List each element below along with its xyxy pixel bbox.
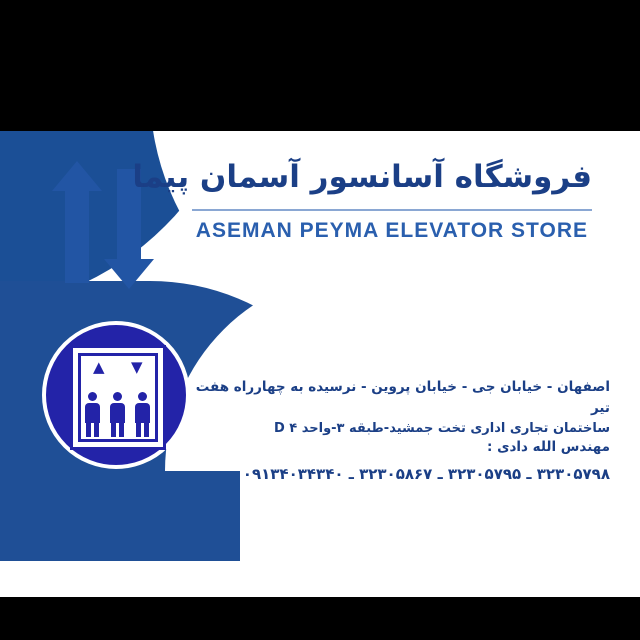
- sign-arrow-up-icon: ▲: [93, 360, 105, 375]
- elevator-sign-plate: ▲ ▼: [70, 345, 166, 450]
- title-divider: [192, 209, 592, 211]
- arrow-up-icon: [65, 183, 89, 283]
- arrow-up-head-icon: [52, 161, 102, 191]
- store-title-persian: فروشگاه آسانسور آسمان پیما: [172, 159, 592, 195]
- decorative-shape-white-bottom: [0, 561, 640, 597]
- contact-person: مهندس الله دادی :: [487, 439, 610, 455]
- elevator-sign-badge: ▲ ▼: [42, 321, 190, 469]
- arrow-down-head-icon: [104, 259, 154, 289]
- person-icon: [107, 392, 127, 438]
- person-icon: [132, 392, 152, 438]
- sign-arrow-down-icon: ▼: [131, 360, 143, 375]
- person-icon: [82, 392, 102, 438]
- address-line-2: ساختمان تجاری اداری تخت جمشید-طبقه ۳-واح…: [190, 419, 610, 439]
- business-card: فروشگاه آسانسور آسمان پیما ASEMAN PEYMA …: [0, 131, 640, 597]
- address-line-1: اصفهان - خیابان جی - خیابان پروین - نرسی…: [190, 377, 610, 419]
- store-title-english: ASEMAN PEYMA ELEVATOR STORE: [168, 219, 588, 243]
- address-block: اصفهان - خیابان جی - خیابان پروین - نرسی…: [190, 377, 610, 439]
- phone-numbers: ۳۲۳۰۵۷۹۸ ـ ۳۲۳۰۵۷۹۵ ـ ۳۲۳۰۵۸۶۷ ـ ۰۹۱۳۴۰۳…: [180, 465, 610, 483]
